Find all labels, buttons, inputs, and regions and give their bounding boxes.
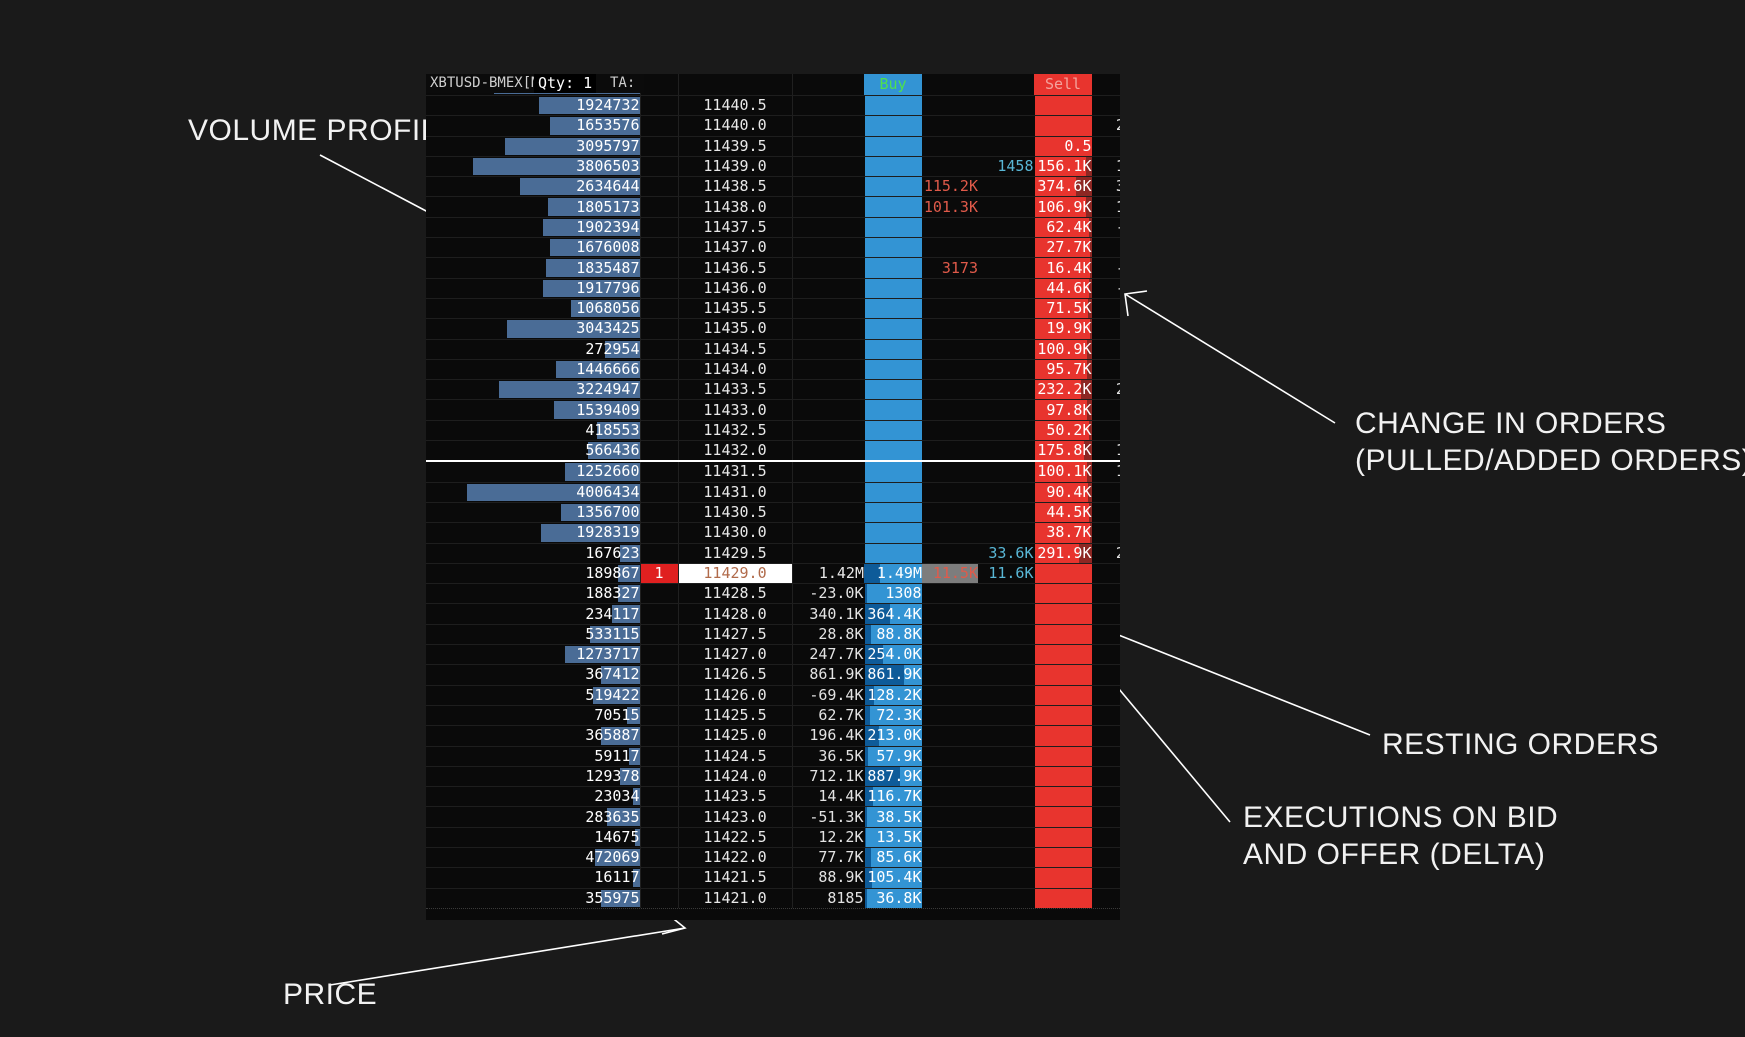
bid-execution-cell [922,685,978,705]
ask-delta-cell [1092,726,1120,746]
position-cell[interactable] [640,847,678,867]
ladder-row[interactable]: 304342511435.019.9K14.4K [426,319,1120,339]
ladder-row[interactable]: 167600811437.027.7K-2339 [426,238,1120,258]
ask-size-cell[interactable] [1034,584,1092,604]
price-cell[interactable]: 11427.0 [678,645,792,665]
ladder-row[interactable]: 47206911422.077.7K85.6K [426,847,1120,867]
bid-execution-cell [922,441,978,462]
bid-size-cell[interactable]: 1.49M [864,563,922,583]
volume-profile-cell: 1805173 [426,197,640,217]
bid-size-cell[interactable]: 36.8K [864,888,922,908]
volume-profile-cell: 129378 [426,766,640,786]
volume-profile-cell: 367412 [426,665,640,685]
bid-delta-cell [792,298,864,318]
ask-size-cell[interactable] [1034,645,1092,665]
bid-size-value: 887.9K [867,767,921,785]
ask-execution-cell [978,298,1034,318]
price-cell[interactable] [678,74,792,96]
bid-size-value: 1308 [885,584,921,602]
price-cell[interactable]: 11430.0 [678,523,792,543]
volume-profile-value: 1805173 [576,198,639,216]
ladder-row[interactable]: 263464411438.5115.2K374.6K344.6K [426,177,1120,197]
position-cell[interactable] [640,523,678,543]
bid-size-cell[interactable]: 254.0K [864,645,922,665]
price-cell[interactable]: 11430.5 [678,502,792,522]
volume-profile-value: 129378 [585,767,639,785]
dom-ladder-panel[interactable]: 3983177BuySell192473211440.542.0K1653576… [426,74,1120,919]
ladder-row[interactable]: 51942211426.0-69.4K128.2K [426,685,1120,705]
bid-size-cell[interactable] [864,156,922,176]
ask-size-cell[interactable] [1034,807,1092,827]
ask-size-value: 106.9K [1037,198,1091,216]
ladder-row[interactable]: 309579711439.50.536.3K [426,136,1120,156]
bid-size-cell[interactable] [864,441,922,462]
ask-size-value: 175.8K [1037,441,1091,459]
ask-size-value: 71.5K [1046,299,1091,317]
bid-size-cell[interactable] [864,116,922,136]
bid-size-cell[interactable]: 105.4K [864,868,922,888]
bid-size-cell[interactable] [864,298,922,318]
price-cell[interactable]: 11433.0 [678,400,792,420]
bid-size-cell[interactable] [864,136,922,156]
ladder-row[interactable]: 127371711427.0247.7K254.0K [426,645,1120,665]
bid-size-cell[interactable] [864,502,922,522]
ladder-row[interactable]: 135670011430.544.5K41.2K [426,502,1120,522]
ladder-row[interactable]: 23411711428.0340.1K364.4K [426,604,1120,624]
price-cell[interactable]: 11431.0 [678,482,792,502]
position-cell[interactable] [640,298,678,318]
ladder-row[interactable]: 36588711425.0196.4K213.0K [426,726,1120,746]
position-cell[interactable] [640,787,678,807]
position-cell[interactable]: 1 [640,563,678,583]
ladder-row[interactable]: 12937811424.0712.1K887.9K [426,766,1120,786]
bid-delta-cell [792,420,864,440]
ask-size-cell[interactable]: 62.4K [1034,217,1092,237]
ask-execution-cell [978,847,1034,867]
bid-size-cell[interactable]: 88.8K [864,624,922,644]
position-cell[interactable] [640,278,678,298]
price-cell[interactable]: 11432.0 [678,441,792,462]
leader-price [330,928,685,985]
ask-size-cell[interactable]: 100.9K [1034,339,1092,359]
ladder-row[interactable]: 7051511425.562.7K72.3K [426,705,1120,725]
ask-execution-cell [978,766,1034,786]
bid-delta-cell: 36.5K [792,746,864,766]
ladder-row[interactable]: 35597511421.0818536.8K [426,888,1120,908]
ladder-row[interactable]: 183548711436.5317316.4K-77.5K [426,258,1120,278]
price-cell[interactable]: 11423.5 [678,787,792,807]
volume-profile-value: 16117 [594,868,639,886]
position-cell[interactable] [640,441,678,462]
leader-change-in-orders [1125,294,1335,423]
price-cell[interactable]: 11434.0 [678,359,792,379]
ask-execution-cell [978,665,1034,685]
ask-size-cell[interactable] [1034,847,1092,867]
ask-size-cell[interactable] [1034,96,1092,116]
ladder-row[interactable]: 56643611432.0175.8K175.8K [426,441,1120,462]
annotation-price: PRICE [283,977,377,1014]
bid-size-cell[interactable] [864,359,922,379]
ask-size-cell[interactable] [1034,888,1092,908]
ladder-row[interactable]: 191779611436.044.6K-25.6K [426,278,1120,298]
price-cell[interactable]: 11426.0 [678,685,792,705]
position-cell[interactable] [640,461,678,482]
ask-delta-cell [1092,74,1120,96]
bid-size-cell[interactable] [864,96,922,116]
ask-execution-cell [978,645,1034,665]
position-qty-badge[interactable]: 1 [641,564,678,583]
position-cell[interactable] [640,96,678,116]
position-cell[interactable] [640,197,678,217]
ask-size-cell[interactable]: 90.4K [1034,482,1092,502]
position-cell[interactable] [640,624,678,644]
ask-size-cell[interactable] [1034,726,1092,746]
bid-size-cell[interactable]: 213.0K [864,726,922,746]
ask-delta-cell [1092,584,1120,604]
bid-execution-cell [922,807,978,827]
volume-profile-value: 1924732 [576,96,639,114]
price-cell[interactable]: 11437.0 [678,238,792,258]
ask-size-cell[interactable]: 175.8K [1034,441,1092,462]
ask-delta-cell [1092,665,1120,685]
bid-execution-cell [922,827,978,847]
ask-size-cell[interactable]: 71.5K [1034,298,1092,318]
ask-size-cell[interactable]: 100.1K [1034,461,1092,482]
bid-depth-fill [865,807,868,826]
ask-size-cell[interactable]: 16.4K [1034,258,1092,278]
ladder-row[interactable]: 380650311439.01458156.1K126.1K [426,156,1120,176]
bid-delta-cell: 340.1K [792,604,864,624]
bid-size-cell[interactable]: 861.9K [864,665,922,685]
ask-size-cell[interactable]: 38.7K [1034,523,1092,543]
ask-execution-cell [978,624,1034,644]
price-cell[interactable]: 11439.0 [678,156,792,176]
position-cell[interactable] [640,665,678,685]
bid-depth-fill [865,584,867,603]
position-cell[interactable] [640,339,678,359]
volume-profile-cell: 167623 [426,543,640,563]
bid-size-cell[interactable] [864,461,922,482]
bid-delta-cell: -69.4K [792,685,864,705]
volume-profile-value: 272954 [585,340,639,358]
ask-size-cell[interactable]: 156.1K [1034,156,1092,176]
ladder-row[interactable]: 322494711433.5232.2K204.6K [426,380,1120,400]
ask-size-cell[interactable]: 19.9K [1034,319,1092,339]
ladder-row[interactable]: 192473211440.542.0K [426,96,1120,116]
position-cell[interactable] [640,380,678,400]
bid-size-cell[interactable] [864,177,922,197]
bid-size-cell[interactable] [864,400,922,420]
bid-size-cell[interactable] [864,319,922,339]
volume-profile-value: 1446666 [576,360,639,378]
price-cell[interactable]: 11438.5 [678,177,792,197]
bid-execution-cell [922,888,978,908]
position-cell[interactable] [640,827,678,847]
ladder-bottom-edge [426,908,1120,920]
position-cell[interactable] [640,746,678,766]
ask-size-cell[interactable] [1034,746,1092,766]
position-cell[interactable] [640,156,678,176]
bid-execution-cell: 3173 [922,258,978,278]
position-cell[interactable] [640,766,678,786]
bid-delta-cell [792,96,864,116]
price-cell[interactable]: 11434.5 [678,339,792,359]
bid-depth-fill [865,625,872,644]
bid-execution-cell [922,319,978,339]
ask-delta-cell [1092,847,1120,867]
ask-size-cell[interactable] [1034,685,1092,705]
bid-size-value: 116.7K [867,787,921,805]
position-cell[interactable] [640,685,678,705]
volume-profile-cell: 4006434 [426,482,640,502]
position-cell[interactable] [640,705,678,725]
bid-size-cell[interactable]: 116.7K [864,787,922,807]
annotation-executions: EXECUTIONS ON BID AND OFFER (DELTA) [1243,800,1558,873]
ask-size-cell[interactable]: 95.7K [1034,359,1092,379]
bid-size-cell[interactable]: 57.9K [864,746,922,766]
volume-profile-cell: 16117 [426,868,640,888]
volume-profile-value: 1273717 [576,645,639,663]
ask-size-cell[interactable] [1034,624,1092,644]
ask-size-value: 291.9K [1037,544,1091,562]
price-cell[interactable]: 11440.0 [678,116,792,136]
position-cell[interactable] [640,482,678,502]
ask-size-cell[interactable] [1034,665,1092,685]
price-cell[interactable]: 11440.5 [678,96,792,116]
bid-size-cell[interactable]: 13.5K [864,827,922,847]
position-cell[interactable] [640,217,678,237]
ask-delta-cell [1092,888,1120,908]
price-cell[interactable]: 11436.5 [678,258,792,278]
bid-delta-cell: -23.0K [792,584,864,604]
ask-size-cell[interactable]: 0.5 [1034,136,1092,156]
volume-profile-value: 283635 [585,808,639,826]
ask-size-cell[interactable]: 50.2K [1034,420,1092,440]
ladder-row[interactable]: 125266011431.5100.1K100.1K [426,461,1120,482]
bid-size-cell[interactable]: 72.3K [864,705,922,725]
position-cell[interactable] [640,116,678,136]
ask-size-cell[interactable]: 291.9K [1034,543,1092,563]
ladder-row[interactable]: 53311511427.528.8K88.8K [426,624,1120,644]
ask-size-cell[interactable] [1034,604,1092,624]
ask-execution-cell [978,705,1034,725]
volume-profile-cell: 533115 [426,624,640,644]
ask-size-cell[interactable]: 44.5K [1034,502,1092,522]
ladder-row[interactable]: 18832711428.5-23.0K1308 [426,584,1120,604]
price-cell[interactable]: 11435.5 [678,298,792,318]
position-cell[interactable] [640,604,678,624]
ask-size-cell[interactable] [1034,116,1092,136]
ask-delta-cell: 100.1K [1092,461,1120,482]
ask-execution-cell [978,420,1034,440]
position-cell[interactable] [640,807,678,827]
bid-execution-cell [922,645,978,665]
position-cell[interactable] [640,177,678,197]
bid-delta-cell [792,359,864,379]
price-cell[interactable]: 11428.0 [678,604,792,624]
price-cell[interactable]: 11421.0 [678,888,792,908]
price-cell[interactable]: 11424.0 [678,766,792,786]
price-cell[interactable]: 11439.5 [678,136,792,156]
bid-size-cell[interactable] [864,197,922,217]
ask-size-cell[interactable] [1034,787,1092,807]
price-cell[interactable]: 11433.5 [678,380,792,400]
ask-size-value: 19.9K [1046,319,1091,337]
ask-size-cell[interactable] [1034,868,1092,888]
price-cell[interactable]: 11423.0 [678,807,792,827]
volume-profile-value: 70515 [594,706,639,724]
bid-execution-cell [922,705,978,725]
position-cell[interactable] [640,868,678,888]
ask-size-cell[interactable]: 232.2K [1034,380,1092,400]
ladder-row[interactable]: 189867111429.01.42M1.49M11.5K11.6K [426,563,1120,583]
ask-size-value: 0.5 [1064,137,1091,155]
position-cell[interactable] [640,74,678,96]
position-cell[interactable] [640,319,678,339]
bid-size-cell[interactable]: 38.5K [864,807,922,827]
volume-profile-cell: 519422 [426,685,640,705]
leader-change-in-orders-arrow [1125,291,1147,316]
bid-size-cell[interactable] [864,420,922,440]
position-cell[interactable] [640,726,678,746]
ladder-row[interactable]: 2303411423.514.4K116.7K [426,787,1120,807]
ta-label: TA: [610,74,635,93]
bid-size-cell[interactable] [864,238,922,258]
current-price-cell[interactable]: 11429.0 [678,563,792,583]
bid-size-cell[interactable]: 887.9K [864,766,922,786]
bid-execution-cell [922,461,978,482]
bid-size-cell[interactable] [864,543,922,563]
ladder-row[interactable]: 27295411434.5100.9K70.9K [426,339,1120,359]
ladder-row[interactable]: 5911711424.536.5K57.9K [426,746,1120,766]
price-cell[interactable]: 11438.0 [678,197,792,217]
volume-profile-value: 23034 [594,787,639,805]
ask-size-cell[interactable] [1034,827,1092,847]
position-cell[interactable] [640,238,678,258]
price-cell[interactable]: 11422.5 [678,827,792,847]
bid-size-cell[interactable] [864,339,922,359]
bid-size-cell[interactable]: 128.2K [864,685,922,705]
sell-column-header[interactable]: Sell [1034,74,1092,96]
ladder-row[interactable]: 16762311429.533.6K291.9K225.4K [426,543,1120,563]
ladder-row[interactable]: 180517311438.0101.3K106.9K106.9K [426,197,1120,217]
ask-delta-cell: 106.9K [1092,197,1120,217]
ask-size-cell[interactable] [1034,766,1092,786]
price-cell[interactable]: 11424.5 [678,746,792,766]
bid-size-cell[interactable] [864,380,922,400]
ask-size-value: 38.7K [1046,523,1091,541]
price-cell[interactable]: 11426.5 [678,665,792,685]
volume-profile-value: 167623 [585,544,639,562]
position-cell[interactable] [640,420,678,440]
buy-column-header[interactable]: Buy [864,74,922,96]
bid-size-cell[interactable] [864,258,922,278]
ladder-row[interactable]: 1467511422.512.2K13.5K [426,827,1120,847]
bid-size-cell[interactable]: 85.6K [864,847,922,867]
bid-size-cell[interactable] [864,482,922,502]
volume-profile-value: 3043425 [576,319,639,337]
ask-size-cell[interactable]: 44.6K [1034,278,1092,298]
bid-delta-cell [792,136,864,156]
price-cell[interactable]: 11428.5 [678,584,792,604]
price-cell[interactable]: 11432.5 [678,420,792,440]
bid-execution-cell [922,665,978,685]
position-cell[interactable] [640,400,678,420]
bid-execution-cell [922,746,978,766]
bid-size-value: 38.5K [876,808,921,826]
ask-size-cell[interactable]: 97.8K [1034,400,1092,420]
ask-execution-cell [978,217,1034,237]
dom-ladder-table[interactable]: 3983177BuySell192473211440.542.0K1653576… [426,74,1120,919]
price-cell[interactable]: 11435.0 [678,319,792,339]
ladder-row[interactable]: 400643411431.090.4K19.1K [426,482,1120,502]
ask-size-cell[interactable]: 106.9K [1034,197,1092,217]
ask-size-cell[interactable]: 374.6K [1034,177,1092,197]
position-cell[interactable] [640,584,678,604]
bid-size-cell[interactable] [864,278,922,298]
ladder-row[interactable]: 36741211426.5861.9K861.9K [426,665,1120,685]
position-cell[interactable] [640,258,678,278]
ladder-row[interactable]: 153940911433.097.8K50.8K [426,400,1120,420]
ask-delta-cell: 19.1K [1092,482,1120,502]
ladder-row[interactable]: 1611711421.588.9K105.4K [426,868,1120,888]
position-cell[interactable] [640,359,678,379]
bid-delta-cell [792,197,864,217]
qty-field[interactable]: Qty: 1 [534,74,596,93]
ladder-row[interactable]: 106805611435.571.5K13.8K [426,298,1120,318]
ask-delta-cell [1092,746,1120,766]
bid-depth-fill [865,747,869,766]
price-cell[interactable]: 11429.5 [678,543,792,563]
price-cell[interactable]: 11425.0 [678,726,792,746]
ladder-row[interactable]: 190239411437.562.4K-62.1K [426,217,1120,237]
ladder-row[interactable]: 192831911430.038.7K16.2K [426,523,1120,543]
position-cell[interactable] [640,136,678,156]
price-cell[interactable]: 11431.5 [678,461,792,482]
volume-profile-cell: 272954 [426,339,640,359]
price-cell[interactable]: 11421.5 [678,868,792,888]
position-cell[interactable] [640,888,678,908]
bid-size-cell[interactable]: 364.4K [864,604,922,624]
ask-size-cell[interactable]: 27.7K [1034,238,1092,258]
bid-execution-cell [922,604,978,624]
ask-delta-cell [1092,868,1120,888]
bid-size-cell[interactable]: 1308 [864,584,922,604]
price-cell[interactable]: 11422.0 [678,847,792,867]
bid-size-cell[interactable] [864,217,922,237]
ask-execution-cell [978,278,1034,298]
price-cell[interactable]: 11427.5 [678,624,792,644]
position-cell[interactable] [640,645,678,665]
position-cell[interactable] [640,502,678,522]
ask-size-cell[interactable] [1034,705,1092,725]
volume-profile-cell: 472069 [426,847,640,867]
bid-size-cell[interactable] [864,523,922,543]
ladder-row[interactable]: 144666611434.095.7K76.1K [426,359,1120,379]
ladder-row[interactable]: 28363511423.0-51.3K38.5K [426,807,1120,827]
price-cell[interactable]: 11425.5 [678,705,792,725]
ask-execution-cell [978,319,1034,339]
ask-size-cell[interactable] [1034,563,1092,583]
price-cell[interactable]: 11436.0 [678,278,792,298]
ask-execution-cell: 11.6K [978,563,1034,583]
bid-size-value: 72.3K [876,706,921,724]
ladder-row[interactable]: 41855311432.550.2K-4031 [426,420,1120,440]
ladder-row[interactable]: 165357611440.0227.4K [426,116,1120,136]
price-cell[interactable]: 11437.5 [678,217,792,237]
position-cell[interactable] [640,543,678,563]
volume-profile-cell: 2634644 [426,177,640,197]
